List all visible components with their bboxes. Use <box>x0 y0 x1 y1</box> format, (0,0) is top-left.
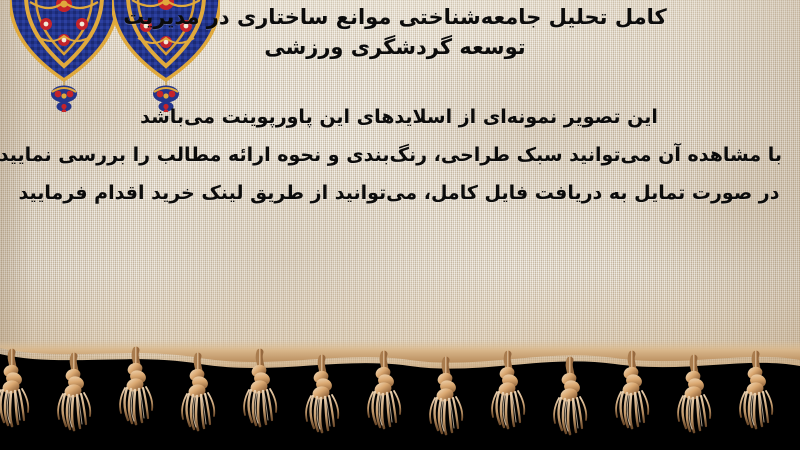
slide-title: کامل تحلیل جامعه‌شناختی موانع ساختاری در… <box>50 2 740 63</box>
slide-body-line-1: این تصویر نمونه‌ای از اسلایدهای این پاور… <box>16 108 782 127</box>
slide-body-line-3: در صورت تمایل به دریافت فایل کامل، می‌تو… <box>16 184 782 203</box>
slide-body-text: این تصویر نمونه‌ای از اسلایدهای این پاور… <box>16 108 782 203</box>
slide-body-line-2: با مشاهده آن می‌توانید سبک طراحی، رنگ‌بن… <box>16 146 782 165</box>
slide-title-line-1: کامل تحلیل جامعه‌شناختی موانع ساختاری در… <box>50 2 740 32</box>
slide-canvas: کامل تحلیل جامعه‌شناختی موانع ساختاری در… <box>0 0 800 450</box>
carpet-fringe-tassels <box>0 340 800 450</box>
slide-title-line-2: توسعه گردشگری ورزشی <box>50 32 740 62</box>
